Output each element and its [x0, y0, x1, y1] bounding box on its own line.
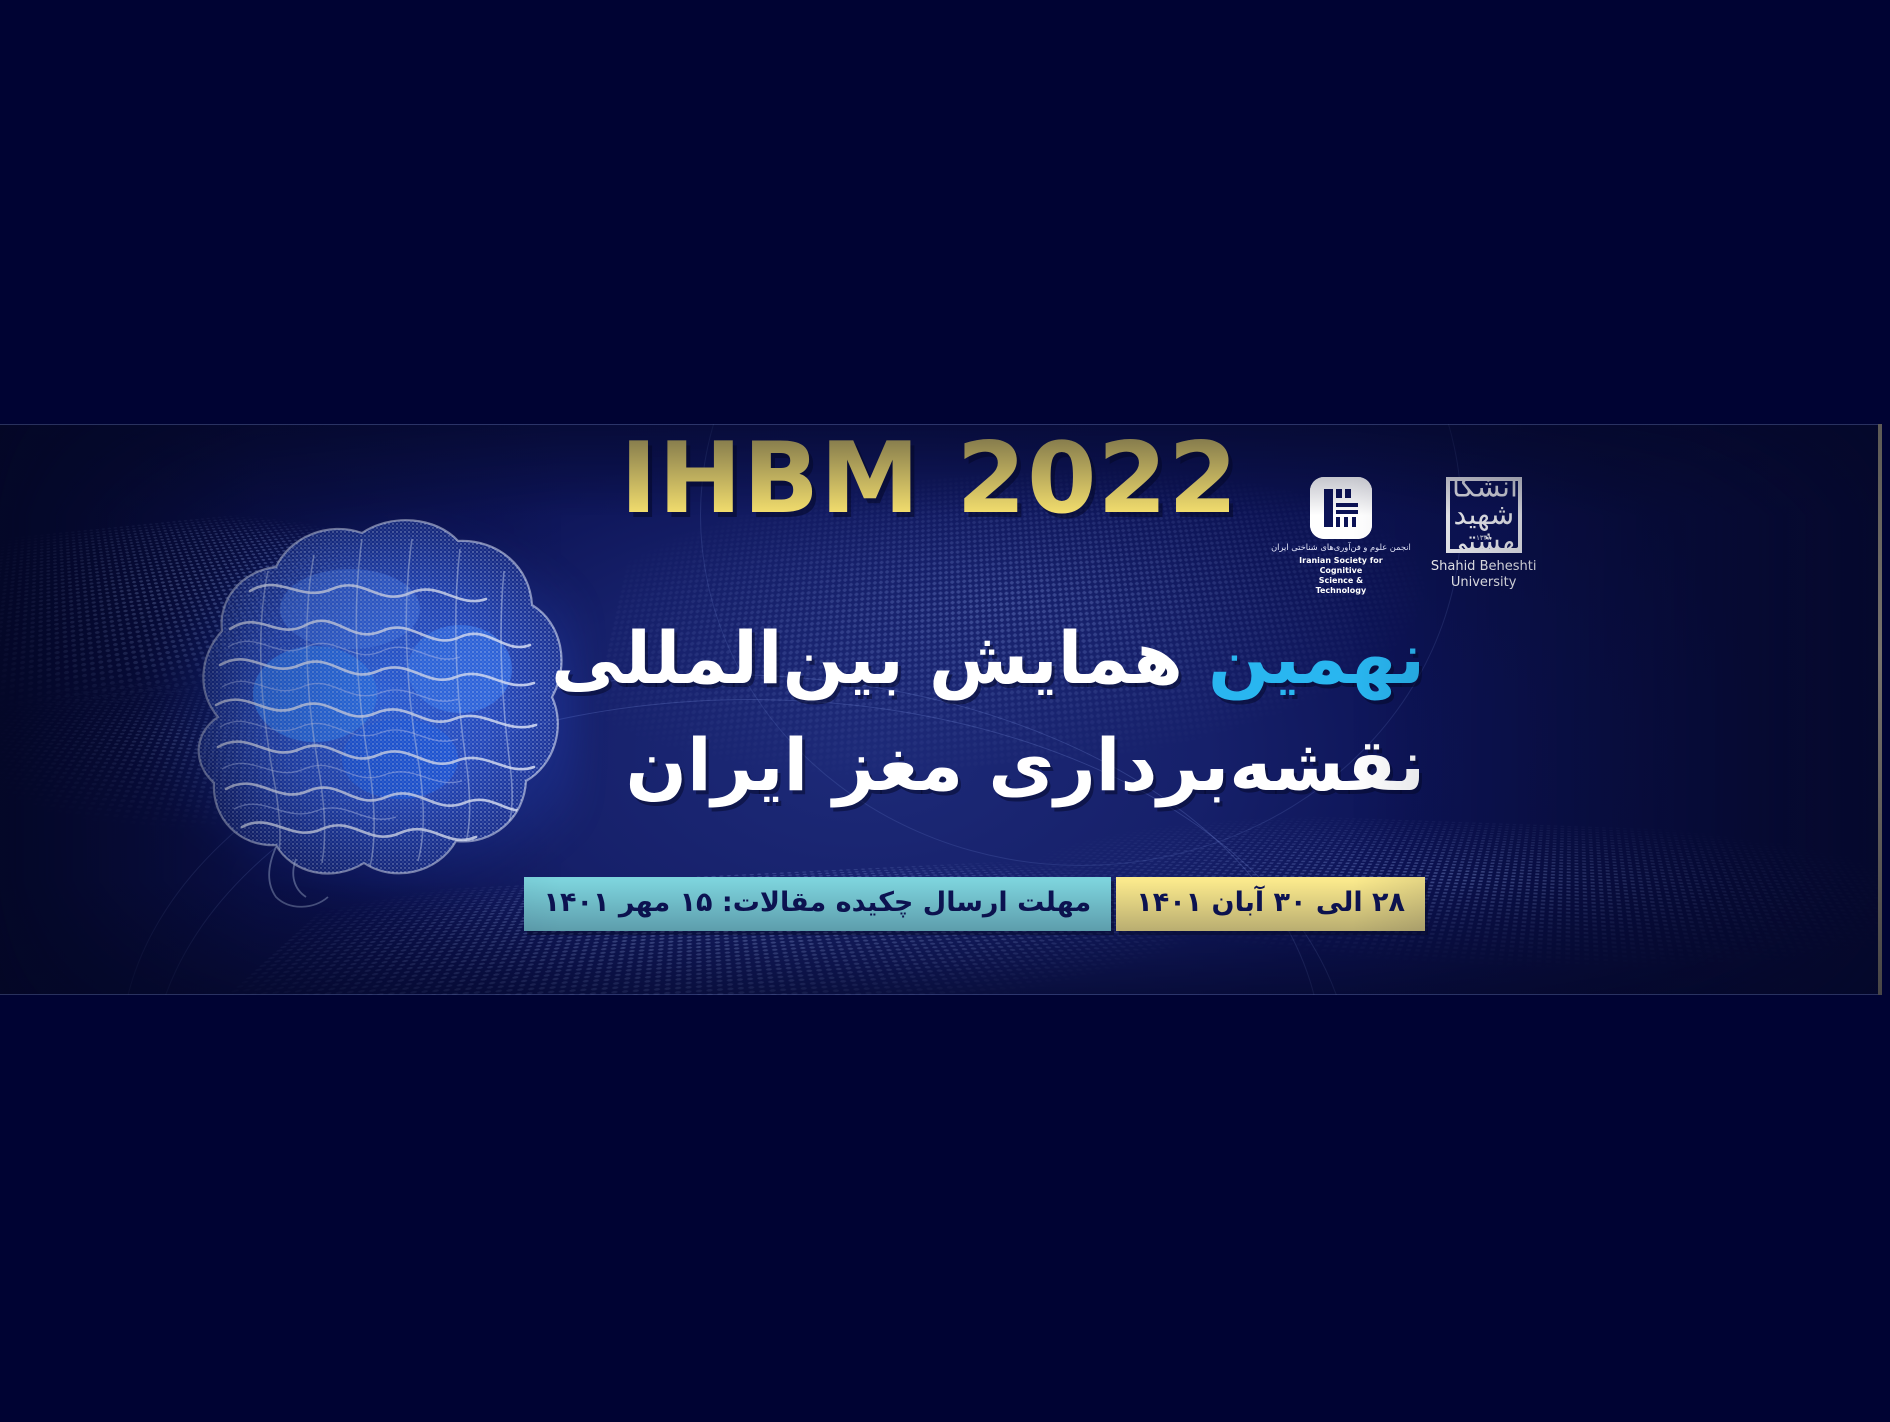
- conference-banner: IHBM 2022: [0, 424, 1878, 995]
- logo-iscs-english-line1: Iranian Society for Cognitive: [1295, 556, 1387, 576]
- event-dates-badge: ۲۸ الی ۳۰ آبان ۱۴۰۱: [1116, 877, 1425, 931]
- logo-sbu-english-line2: University: [1431, 575, 1537, 591]
- logo-shahid-beheshti-university: دانشگاه شهید بهشتی ۱۳۳۸ Shahid Beheshti …: [1431, 477, 1537, 590]
- page-root: IHBM 2022: [0, 0, 1890, 1422]
- headline-line-1: نهمین همایش بین‌المللی: [551, 622, 1425, 694]
- sbu-calligraphy-icon: دانشگاه شهید بهشتی ۱۳۳۸: [1446, 477, 1522, 553]
- ics-monogram-svg: [1310, 477, 1372, 539]
- headline-line1-rest: همایش بین‌المللی: [551, 616, 1208, 700]
- abstract-deadline-badge: مهلت ارسال چکیده مقالات: ۱۵ مهر ۱۴۰۱: [524, 877, 1112, 931]
- ics-monogram-icon: [1310, 477, 1372, 539]
- logo-iranian-society-for-cognitive-science: انجمن علوم و فن‌آوری‌های شناختی ایران Ir…: [1265, 477, 1417, 596]
- logo-iscs-english-line2: Science & Technology: [1295, 576, 1387, 596]
- logo-sbu-english-name: Shahid Beheshti University: [1431, 559, 1537, 590]
- page-title: IHBM 2022: [620, 430, 1239, 528]
- banner-bottom-edge: [0, 994, 1878, 995]
- banner-top-edge: [0, 424, 1878, 425]
- logo-group: انجمن علوم و فن‌آوری‌های شناختی ایران Ir…: [1265, 477, 1536, 596]
- headline-accent-word: نهمین: [1208, 616, 1425, 700]
- banner-right-edge: [1878, 424, 1882, 995]
- sbu-logo-inner: دانشگاه شهید بهشتی ۱۳۳۸: [1450, 481, 1518, 549]
- logo-iscs-persian-name: انجمن علوم و فن‌آوری‌های شناختی ایران: [1271, 544, 1411, 553]
- logo-sbu-english-line1: Shahid Beheshti: [1431, 559, 1537, 575]
- logo-iscs-english-name: Iranian Society for Cognitive Science & …: [1295, 556, 1387, 596]
- banner-content: IHBM 2022: [600, 424, 1780, 995]
- sbu-established-year: ۱۳۳۸: [1450, 534, 1518, 542]
- headline-line-2: نقشه‌برداری مغز ایران: [626, 729, 1425, 801]
- badge-group: ۲۸ الی ۳۰ آبان ۱۴۰۱ مهلت ارسال چکیده مقا…: [524, 877, 1426, 931]
